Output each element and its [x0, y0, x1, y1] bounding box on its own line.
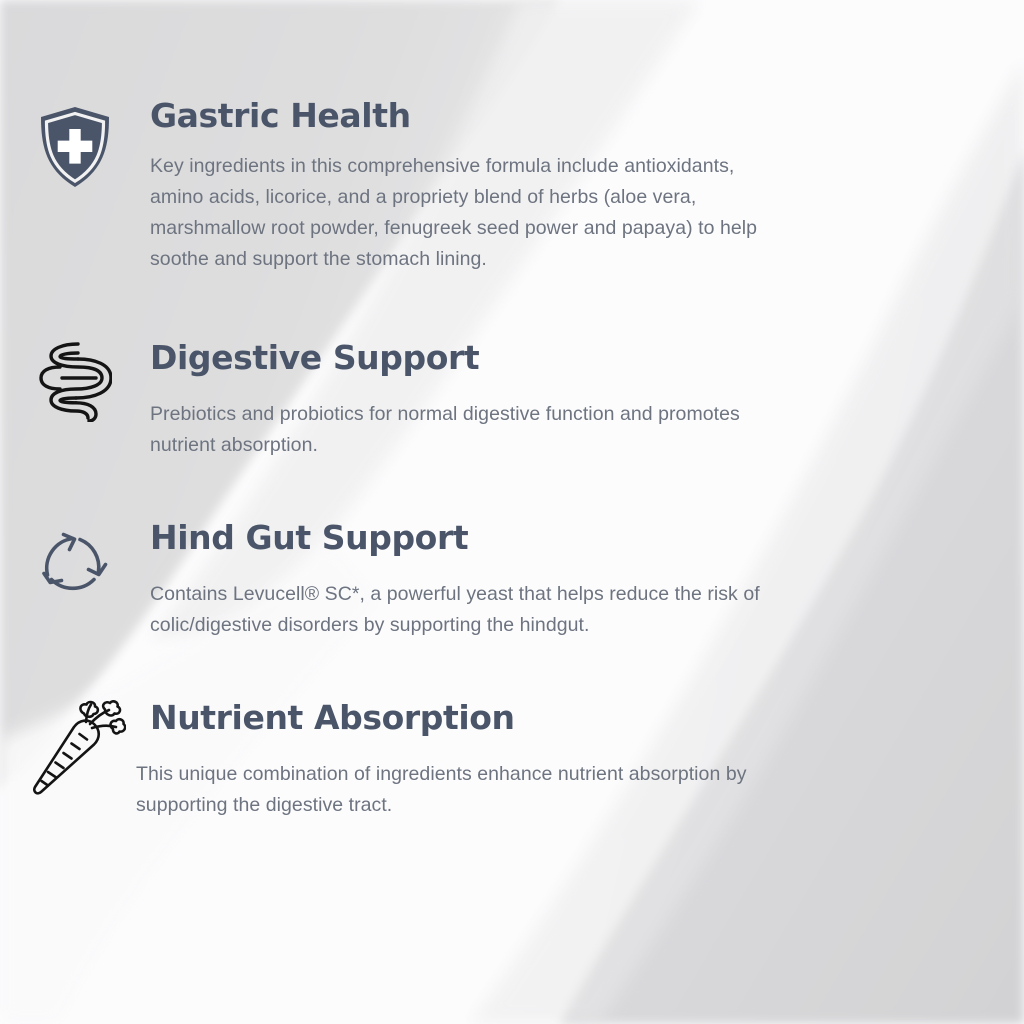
features-list: Gastric Health Key ingredients in this c… — [0, 0, 1024, 1024]
feature-title: Digestive Support — [150, 340, 940, 377]
intestine-icon — [38, 340, 112, 422]
feature-text: Gastric Health Key ingredients in this c… — [150, 98, 940, 275]
feature-gastric-health: Gastric Health Key ingredients in this c… — [0, 98, 940, 275]
feature-icon-wrapper — [0, 520, 150, 602]
feature-text: Nutrient Absorption This unique combinat… — [150, 700, 960, 821]
feature-text: Hind Gut Support Contains Levucell® SC*,… — [150, 520, 960, 641]
carrot-icon — [24, 700, 126, 796]
feature-title: Gastric Health — [150, 98, 940, 135]
feature-title: Nutrient Absorption — [150, 700, 960, 737]
feature-icon-wrapper — [0, 700, 150, 796]
feature-title: Hind Gut Support — [150, 520, 960, 557]
feature-hind-gut-support: Hind Gut Support Contains Levucell® SC*,… — [0, 520, 960, 641]
feature-description: Contains Levucell® SC*, a powerful yeast… — [150, 579, 815, 641]
feature-description: This unique combination of ingredients e… — [136, 759, 756, 821]
feature-icon-wrapper — [0, 340, 150, 422]
shield-medical-cross-icon — [36, 104, 114, 190]
feature-description: Key ingredients in this comprehensive fo… — [150, 151, 792, 275]
feature-description: Prebiotics and probiotics for normal dig… — [150, 399, 785, 461]
feature-icon-wrapper — [0, 98, 150, 190]
cycle-arrows-icon — [35, 526, 115, 602]
feature-nutrient-absorption: Nutrient Absorption This unique combinat… — [0, 700, 960, 821]
feature-digestive-support: Digestive Support Prebiotics and probiot… — [0, 340, 940, 461]
feature-text: Digestive Support Prebiotics and probiot… — [150, 340, 940, 461]
product-benefits-panel: Gastric Health Key ingredients in this c… — [0, 0, 1024, 1024]
